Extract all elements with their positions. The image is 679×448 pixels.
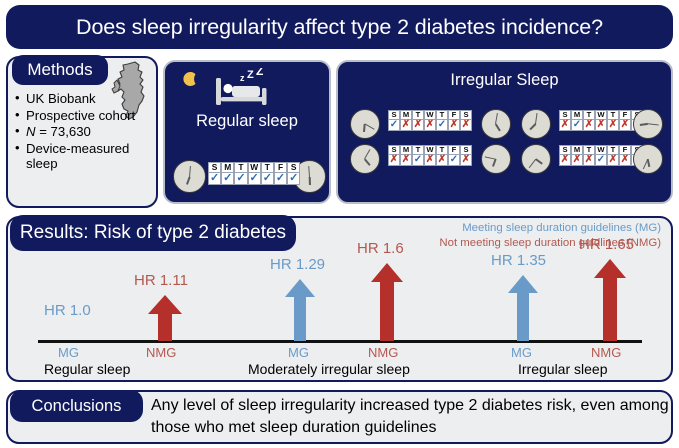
svg-text:z: z bbox=[240, 73, 245, 83]
category-label-regular: Regular sleep bbox=[44, 361, 130, 377]
conclusions-badge: Conclusions bbox=[10, 390, 143, 422]
check-icon: ✓ bbox=[571, 120, 583, 131]
arrow-irregular-nmg bbox=[594, 259, 626, 341]
check-icon: ✓ bbox=[248, 173, 261, 185]
check-icon: ✓ bbox=[388, 120, 400, 131]
check-icon: ✓ bbox=[436, 120, 448, 131]
page-title-text: Does sleep irregularity affect type 2 di… bbox=[76, 15, 603, 40]
clock-minute-hand bbox=[189, 165, 191, 176]
clock-hour-hand bbox=[309, 176, 311, 184]
methods-panel: Methods UK Biobank Prospective cohort N … bbox=[6, 56, 158, 208]
irregular-day-strip-1: S M T W T F S ✓ ✗ ✗ ✗ ✓ ✗ ✗ bbox=[388, 110, 472, 131]
cross-icon: ✗ bbox=[583, 155, 595, 166]
results-badge-label: Results: Risk of type 2 diabetes bbox=[20, 222, 286, 244]
methods-item-2: N = 73,630 bbox=[13, 124, 159, 140]
group-label-moderate-nmg: NMG bbox=[368, 345, 398, 360]
clock-irregular-1 bbox=[350, 109, 380, 139]
cross-icon: ✗ bbox=[412, 120, 424, 131]
clock-irregular-2 bbox=[481, 109, 511, 139]
clock-minute-hand bbox=[648, 123, 659, 126]
cross-icon: ✗ bbox=[388, 155, 400, 166]
hr-label-irregular-nmg: HR 1.65 bbox=[579, 236, 634, 253]
clock-irregular-7 bbox=[521, 144, 551, 174]
svg-text:Z: Z bbox=[247, 69, 254, 81]
check-icon: ✓ bbox=[208, 173, 221, 185]
sleeping-person-in-bed-icon: z Z Z bbox=[209, 68, 281, 110]
irregular-sleep-panel: Irregular Sleep S M T W T F S ✓ ✗ ✗ ✗ ✓ … bbox=[336, 60, 673, 204]
cross-icon: ✗ bbox=[607, 155, 619, 166]
arrow-moderate-nmg bbox=[371, 263, 403, 341]
crescent-moon-icon bbox=[182, 70, 200, 88]
day-mark-row: ✗ ✗ ✓ ✗ ✗ ✓ ✗ bbox=[388, 155, 472, 166]
cross-icon: ✗ bbox=[559, 120, 571, 131]
clock-minute-hand bbox=[308, 165, 310, 176]
clock-minute-hand bbox=[495, 113, 498, 124]
regular-sleep-panel: z Z Z Regular sleep S M T W T F S ✓ bbox=[163, 60, 331, 204]
cross-icon: ✗ bbox=[436, 155, 448, 166]
hr-label-regular-mg: HR 1.0 bbox=[44, 302, 91, 319]
cross-icon: ✗ bbox=[583, 120, 595, 131]
clock-irregular-3 bbox=[521, 109, 551, 139]
arrow-regular-nmg bbox=[148, 295, 182, 341]
arrow-irregular-mg bbox=[508, 275, 538, 341]
regular-sleep-label: Regular sleep bbox=[165, 112, 329, 131]
clock-hour-hand bbox=[364, 158, 370, 165]
cross-icon: ✗ bbox=[559, 155, 571, 166]
irregular-day-strip-3: S M T W T F S ✗ ✓ ✗ ✗ ✗ ✗ ✗ bbox=[559, 110, 643, 131]
clock-minute-hand bbox=[529, 159, 537, 169]
chart-axis-line bbox=[38, 340, 642, 343]
cross-icon: ✗ bbox=[595, 120, 607, 131]
clock-minute-hand bbox=[365, 123, 375, 130]
cross-icon: ✗ bbox=[448, 120, 460, 131]
group-label-regular-nmg: NMG bbox=[146, 345, 176, 360]
cross-icon: ✗ bbox=[424, 120, 436, 131]
cross-icon: ✗ bbox=[460, 120, 472, 131]
page-title: Does sleep irregularity affect type 2 di… bbox=[6, 5, 673, 49]
clock-hour-hand bbox=[492, 159, 496, 167]
day-mark-row: ✓ ✗ ✗ ✗ ✓ ✗ ✗ bbox=[388, 120, 472, 131]
hr-label-moderate-nmg: HR 1.6 bbox=[357, 240, 404, 257]
methods-item-2-symbol: N bbox=[26, 124, 36, 139]
hazard-ratio-chart: HR 1.0 HR 1.11 HR 1.29 HR 1.6 HR 1.35 HR… bbox=[8, 248, 671, 382]
arrow-moderate-mg bbox=[285, 279, 315, 341]
methods-badge: Methods bbox=[12, 55, 108, 85]
day-mark-row: ✗ ✓ ✗ ✗ ✗ ✗ ✗ bbox=[559, 120, 643, 131]
methods-item-2-value: = 73,630 bbox=[36, 124, 91, 139]
legend-item-mg: Meeting sleep duration guidelines (MG) bbox=[439, 221, 661, 236]
check-icon: ✓ bbox=[412, 155, 424, 166]
methods-bullet-list: UK Biobank Prospective cohort N = 73,630… bbox=[13, 91, 159, 173]
check-icon: ✓ bbox=[287, 173, 300, 185]
results-badge: Results: Risk of type 2 diabetes bbox=[10, 215, 296, 251]
category-label-moderate: Moderately irregular sleep bbox=[248, 361, 410, 377]
category-label-irregular: Irregular sleep bbox=[518, 361, 608, 377]
clock-irregular-5 bbox=[350, 144, 380, 174]
check-icon: ✓ bbox=[595, 155, 607, 166]
clock-irregular-4 bbox=[633, 109, 663, 139]
cross-icon: ✗ bbox=[460, 155, 472, 166]
cross-icon: ✗ bbox=[400, 155, 412, 166]
clock-minute-hand bbox=[364, 149, 371, 159]
irregular-day-strip-2: S M T W T F S ✗ ✗ ✓ ✗ ✗ ✓ ✗ bbox=[388, 145, 472, 166]
clock-irregular-6 bbox=[481, 144, 511, 174]
methods-item-1: Prospective cohort bbox=[13, 108, 159, 124]
cross-icon: ✗ bbox=[400, 120, 412, 131]
cross-icon: ✗ bbox=[424, 155, 436, 166]
group-label-irregular-mg: MG bbox=[511, 345, 532, 360]
clock-hour-hand bbox=[530, 123, 537, 130]
svg-text:Z: Z bbox=[256, 68, 263, 78]
conclusions-panel: Conclusions Any level of sleep irregular… bbox=[6, 390, 673, 444]
conclusions-text: Any level of sleep irregularity increase… bbox=[151, 395, 669, 438]
group-label-moderate-mg: MG bbox=[288, 345, 309, 360]
irregular-sleep-label: Irregular Sleep bbox=[338, 71, 671, 90]
check-icon: ✓ bbox=[448, 155, 460, 166]
day-mark-row: ✓ ✓ ✓ ✓ ✓ ✓ ✓ bbox=[208, 173, 300, 185]
cross-icon: ✗ bbox=[607, 120, 619, 131]
regular-sleep-day-strip: S M T W T F S ✓ ✓ ✓ ✓ ✓ ✓ ✓ bbox=[208, 162, 300, 185]
day-mark-row: ✗ ✗ ✗ ✓ ✗ ✗ ✓ bbox=[559, 155, 643, 166]
clock-hour-hand bbox=[536, 158, 543, 164]
clock-minute-hand bbox=[535, 113, 538, 124]
cross-icon: ✗ bbox=[619, 120, 631, 131]
methods-badge-label: Methods bbox=[27, 60, 92, 80]
clock-irregular-8 bbox=[633, 144, 663, 174]
check-icon: ✓ bbox=[234, 173, 247, 185]
methods-item-0: UK Biobank bbox=[13, 91, 159, 107]
clock-minute-hand bbox=[485, 156, 496, 160]
irregular-day-strip-4: S M T W T F S ✗ ✗ ✗ ✓ ✗ ✗ ✓ bbox=[559, 145, 643, 166]
cross-icon: ✗ bbox=[619, 155, 631, 166]
check-icon: ✓ bbox=[274, 173, 287, 185]
cross-icon: ✗ bbox=[571, 155, 583, 166]
hr-label-irregular-mg: HR 1.35 bbox=[491, 252, 546, 269]
check-icon: ✓ bbox=[221, 173, 234, 185]
results-panel: Results: Risk of type 2 diabetes Meeting… bbox=[6, 216, 673, 382]
group-label-irregular-nmg: NMG bbox=[591, 345, 621, 360]
check-icon: ✓ bbox=[261, 173, 274, 185]
group-label-regular-mg: MG bbox=[58, 345, 79, 360]
methods-item-3: Device-measured sleep bbox=[13, 141, 159, 172]
conclusions-badge-label: Conclusions bbox=[32, 397, 122, 416]
hr-label-moderate-mg: HR 1.29 bbox=[270, 256, 325, 273]
clock-hour-hand bbox=[186, 176, 190, 184]
hr-label-regular-nmg: HR 1.11 bbox=[134, 272, 188, 289]
clock-regular-left bbox=[173, 160, 206, 193]
clock-hour-hand bbox=[495, 124, 501, 132]
